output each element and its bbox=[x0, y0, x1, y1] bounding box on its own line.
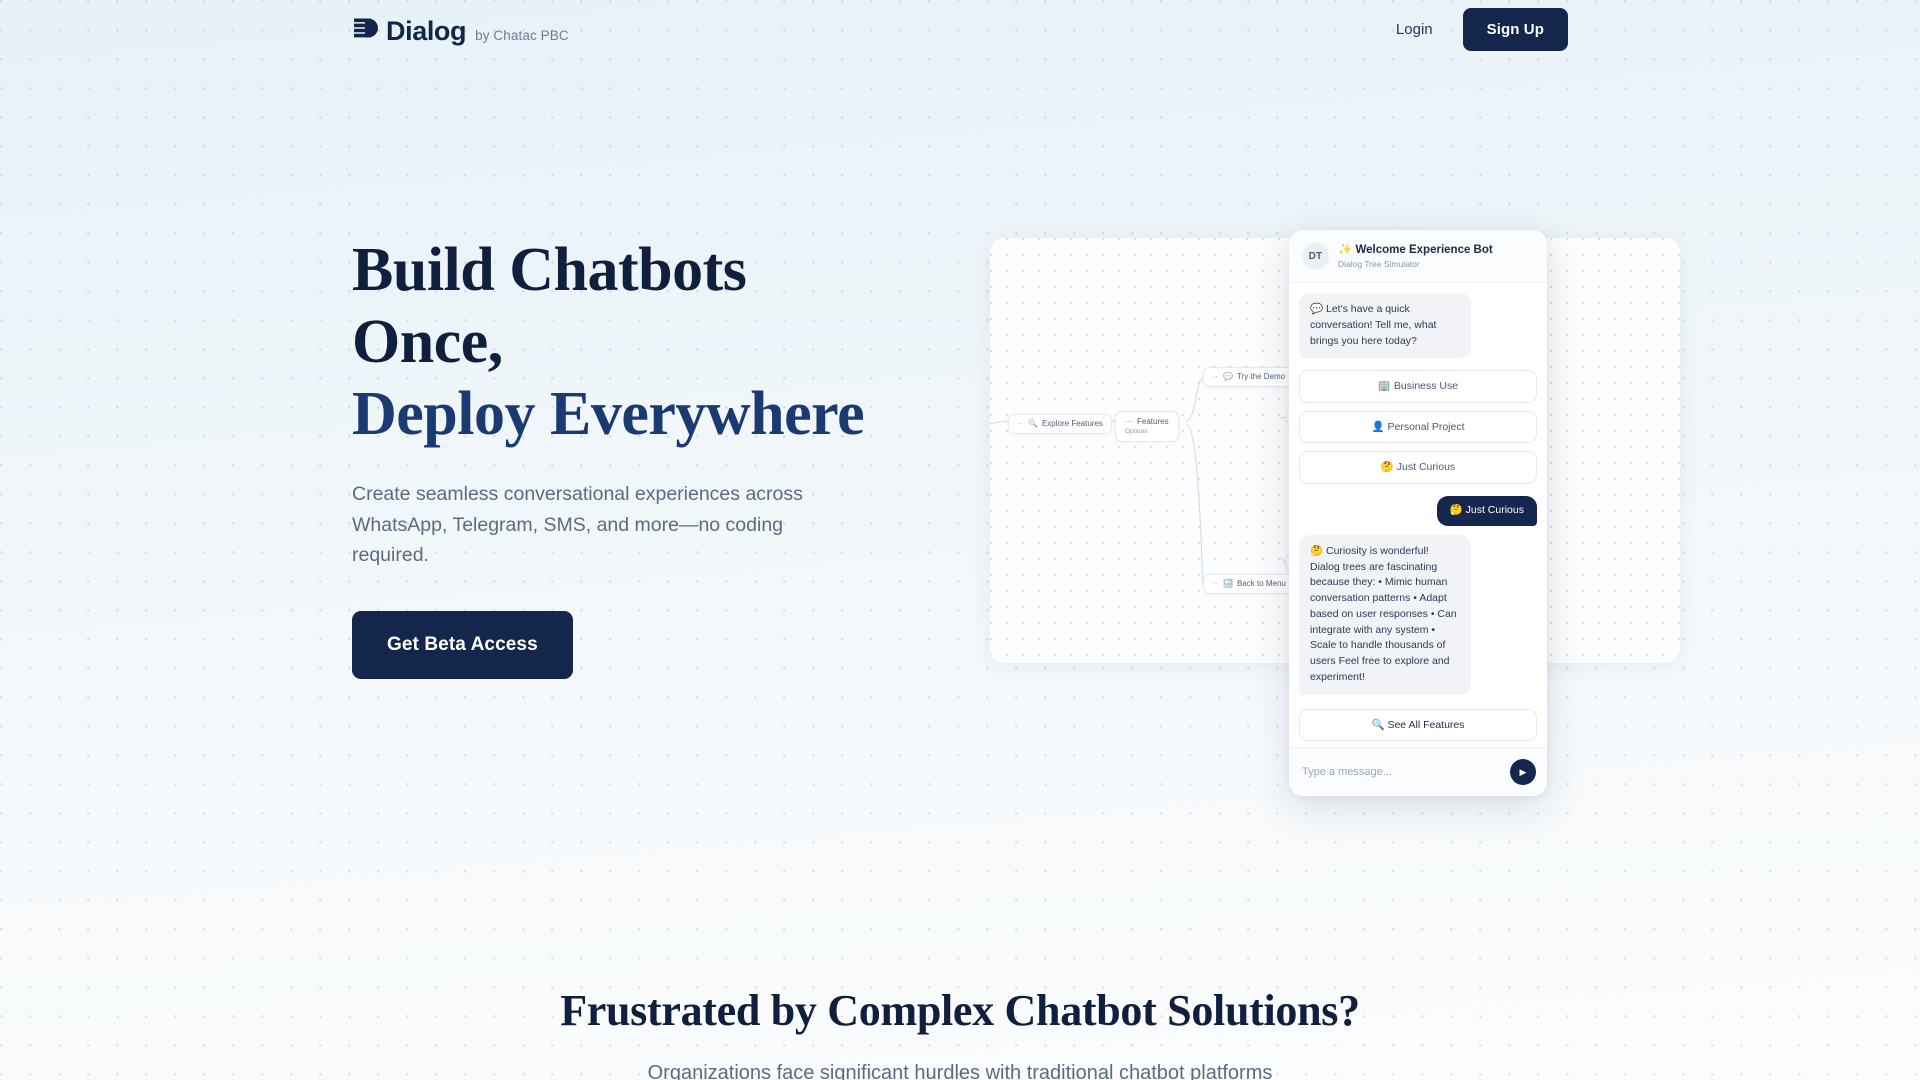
chat-bot-subtitle: Dialog Tree Simulator bbox=[1338, 259, 1493, 269]
chat-first-options: 🏢 Business Use 👤 Personal Project 🤔 Just… bbox=[1299, 370, 1537, 484]
problem-section: Frustrated by Complex Chatbot Solutions?… bbox=[0, 985, 1920, 1080]
tree-node-label: Features bbox=[1137, 417, 1169, 427]
chat-message-input[interactable] bbox=[1300, 764, 1502, 780]
tree-node[interactable]: →🔙Back to Menu bbox=[1203, 574, 1295, 594]
bot-message-bubble: 💬 Let's have a quick conversation! Tell … bbox=[1299, 293, 1471, 358]
hero-title: Build Chatbots Once, Deploy Everywhere bbox=[352, 235, 912, 451]
dialog-d-mark-icon bbox=[352, 14, 378, 40]
chat-message-row: 🤔 Just Curious bbox=[1299, 496, 1537, 526]
tree-node[interactable]: ⋯FeaturesOptions bbox=[1115, 411, 1179, 442]
chat-bot-title: ✨ Welcome Experience Bot bbox=[1338, 244, 1493, 258]
chat-message-row: 🤔 Curiosity is wonderful! Dialog trees a… bbox=[1299, 535, 1537, 695]
node-icon: 🔍 bbox=[1028, 419, 1038, 429]
hero-copy: Build Chatbots Once, Deploy Everywhere C… bbox=[352, 235, 912, 679]
node-arrow-icon: → bbox=[1212, 373, 1219, 382]
tree-node[interactable]: →💬Try the Demo bbox=[1203, 367, 1294, 387]
user-message-bubble: 🤔 Just Curious bbox=[1437, 496, 1537, 526]
tree-node-sublabel: Options bbox=[1125, 428, 1147, 436]
get-beta-access-button[interactable]: Get Beta Access bbox=[352, 611, 573, 679]
tree-node-label: Explore Features bbox=[1042, 419, 1103, 429]
option-just-curious[interactable]: 🤔 Just Curious bbox=[1299, 451, 1537, 484]
tree-node[interactable]: →🔍Explore Features bbox=[1008, 414, 1112, 434]
login-button[interactable]: Login bbox=[1390, 13, 1439, 46]
hero-section: Build Chatbots Once, Deploy Everywhere C… bbox=[0, 0, 1920, 985]
option-personal-project[interactable]: 👤 Personal Project bbox=[1299, 411, 1537, 444]
node-icon: 🔙 bbox=[1223, 579, 1233, 589]
option-see-all-features[interactable]: 🔍 See All Features bbox=[1299, 709, 1537, 742]
send-arrow-icon[interactable]: ▶ bbox=[1510, 759, 1536, 785]
hero-title-line-1: Build Chatbots bbox=[352, 235, 912, 307]
chat-widget[interactable]: DT ✨ Welcome Experience Bot Dialog Tree … bbox=[1289, 230, 1547, 796]
node-arrow-icon: → bbox=[1017, 420, 1024, 429]
brand-logo[interactable]: Dialog by Chatac PBC bbox=[352, 14, 569, 45]
tree-node-label: Try the Demo bbox=[1237, 372, 1285, 382]
chat-header: DT ✨ Welcome Experience Bot Dialog Tree … bbox=[1289, 230, 1547, 283]
tree-node-label: Back to Menu bbox=[1237, 579, 1286, 589]
chat-avatar: DT bbox=[1302, 243, 1329, 270]
node-arrow-icon: → bbox=[1212, 580, 1219, 589]
problem-section-subtitle: Organizations face significant hurdles w… bbox=[0, 1062, 1920, 1080]
problem-section-title: Frustrated by Complex Chatbot Solutions? bbox=[0, 985, 1920, 1036]
bot-message-bubble: 🤔 Curiosity is wonderful! Dialog trees a… bbox=[1299, 535, 1471, 695]
header-nav: Login Sign Up bbox=[1390, 8, 1568, 51]
chat-message-list[interactable]: 💬 Let's have a quick conversation! Tell … bbox=[1289, 283, 1547, 747]
chat-message-row: 💬 Let's have a quick conversation! Tell … bbox=[1299, 293, 1537, 358]
brand-byline: by Chatac PBC bbox=[475, 28, 569, 43]
chat-input-bar: ▶ bbox=[1289, 747, 1547, 796]
hero-subtitle: Create seamless conversational experienc… bbox=[352, 479, 837, 571]
signup-button[interactable]: Sign Up bbox=[1463, 8, 1568, 51]
option-business-use[interactable]: 🏢 Business Use bbox=[1299, 370, 1537, 403]
brand-name: Dialog bbox=[386, 18, 466, 45]
site-header: Dialog by Chatac PBC Login Sign Up bbox=[0, 0, 1920, 64]
node-icon: ⋯ bbox=[1125, 417, 1133, 427]
chat-second-options: 🔍 See All Features 💬 Try Demo Chat ☑️ Th… bbox=[1299, 709, 1537, 747]
hero-title-line-3: Deploy Everywhere bbox=[352, 379, 912, 451]
node-icon: 💬 bbox=[1223, 372, 1233, 382]
hero-title-line-2: Once, bbox=[352, 307, 912, 379]
